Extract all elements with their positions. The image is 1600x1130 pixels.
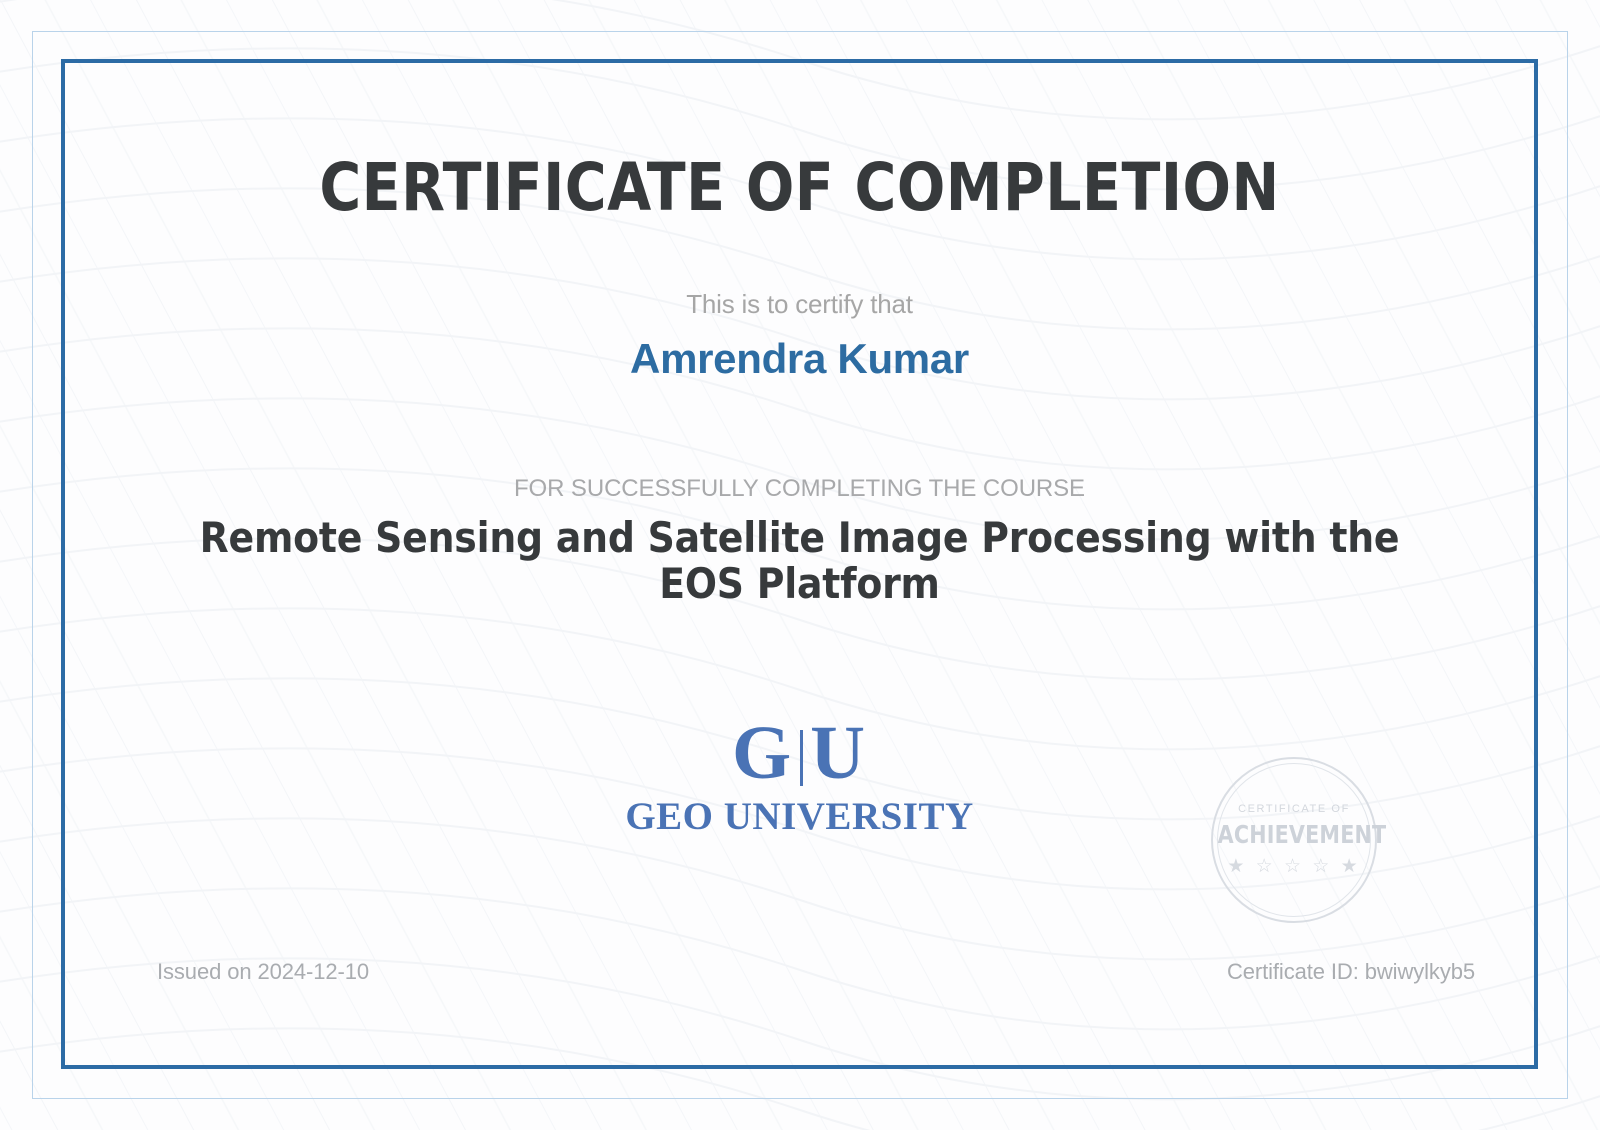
seal-top-label: CERTIFICATE OF: [1211, 803, 1377, 815]
course-title: Remote Sensing and Satellite Image Proce…: [175, 515, 1424, 607]
seal-stars-icon: ★ ☆ ☆ ☆ ★: [1211, 855, 1377, 879]
certificate-title: CERTIFICATE OF COMPLETION: [94, 149, 1504, 226]
certificate-content: CERTIFICATE OF COMPLETION This is to cer…: [65, 63, 1534, 1065]
seal-main-label: ACHIEVEMENT: [1218, 820, 1371, 849]
recipient-name: Amrendra Kumar: [65, 335, 1534, 383]
logo-monogram-right: U: [810, 711, 867, 795]
course-eyebrow-label: FOR SUCCESSFULLY COMPLETING THE COURSE: [65, 475, 1534, 503]
logo-monogram-left: G: [732, 711, 793, 795]
issued-on-label: Issued on 2024-12-10: [157, 959, 369, 985]
achievement-seal: CERTIFICATE OF ACHIEVEMENT ★ ☆ ☆ ☆ ★: [1211, 757, 1377, 923]
certificate-page: CERTIFICATE OF COMPLETION This is to cer…: [0, 0, 1600, 1130]
logo-divider-bar: [800, 730, 803, 786]
certificate-id-label: Certificate ID: bwiwylkyb5: [1227, 959, 1475, 985]
certify-line: This is to certify that: [65, 289, 1534, 320]
